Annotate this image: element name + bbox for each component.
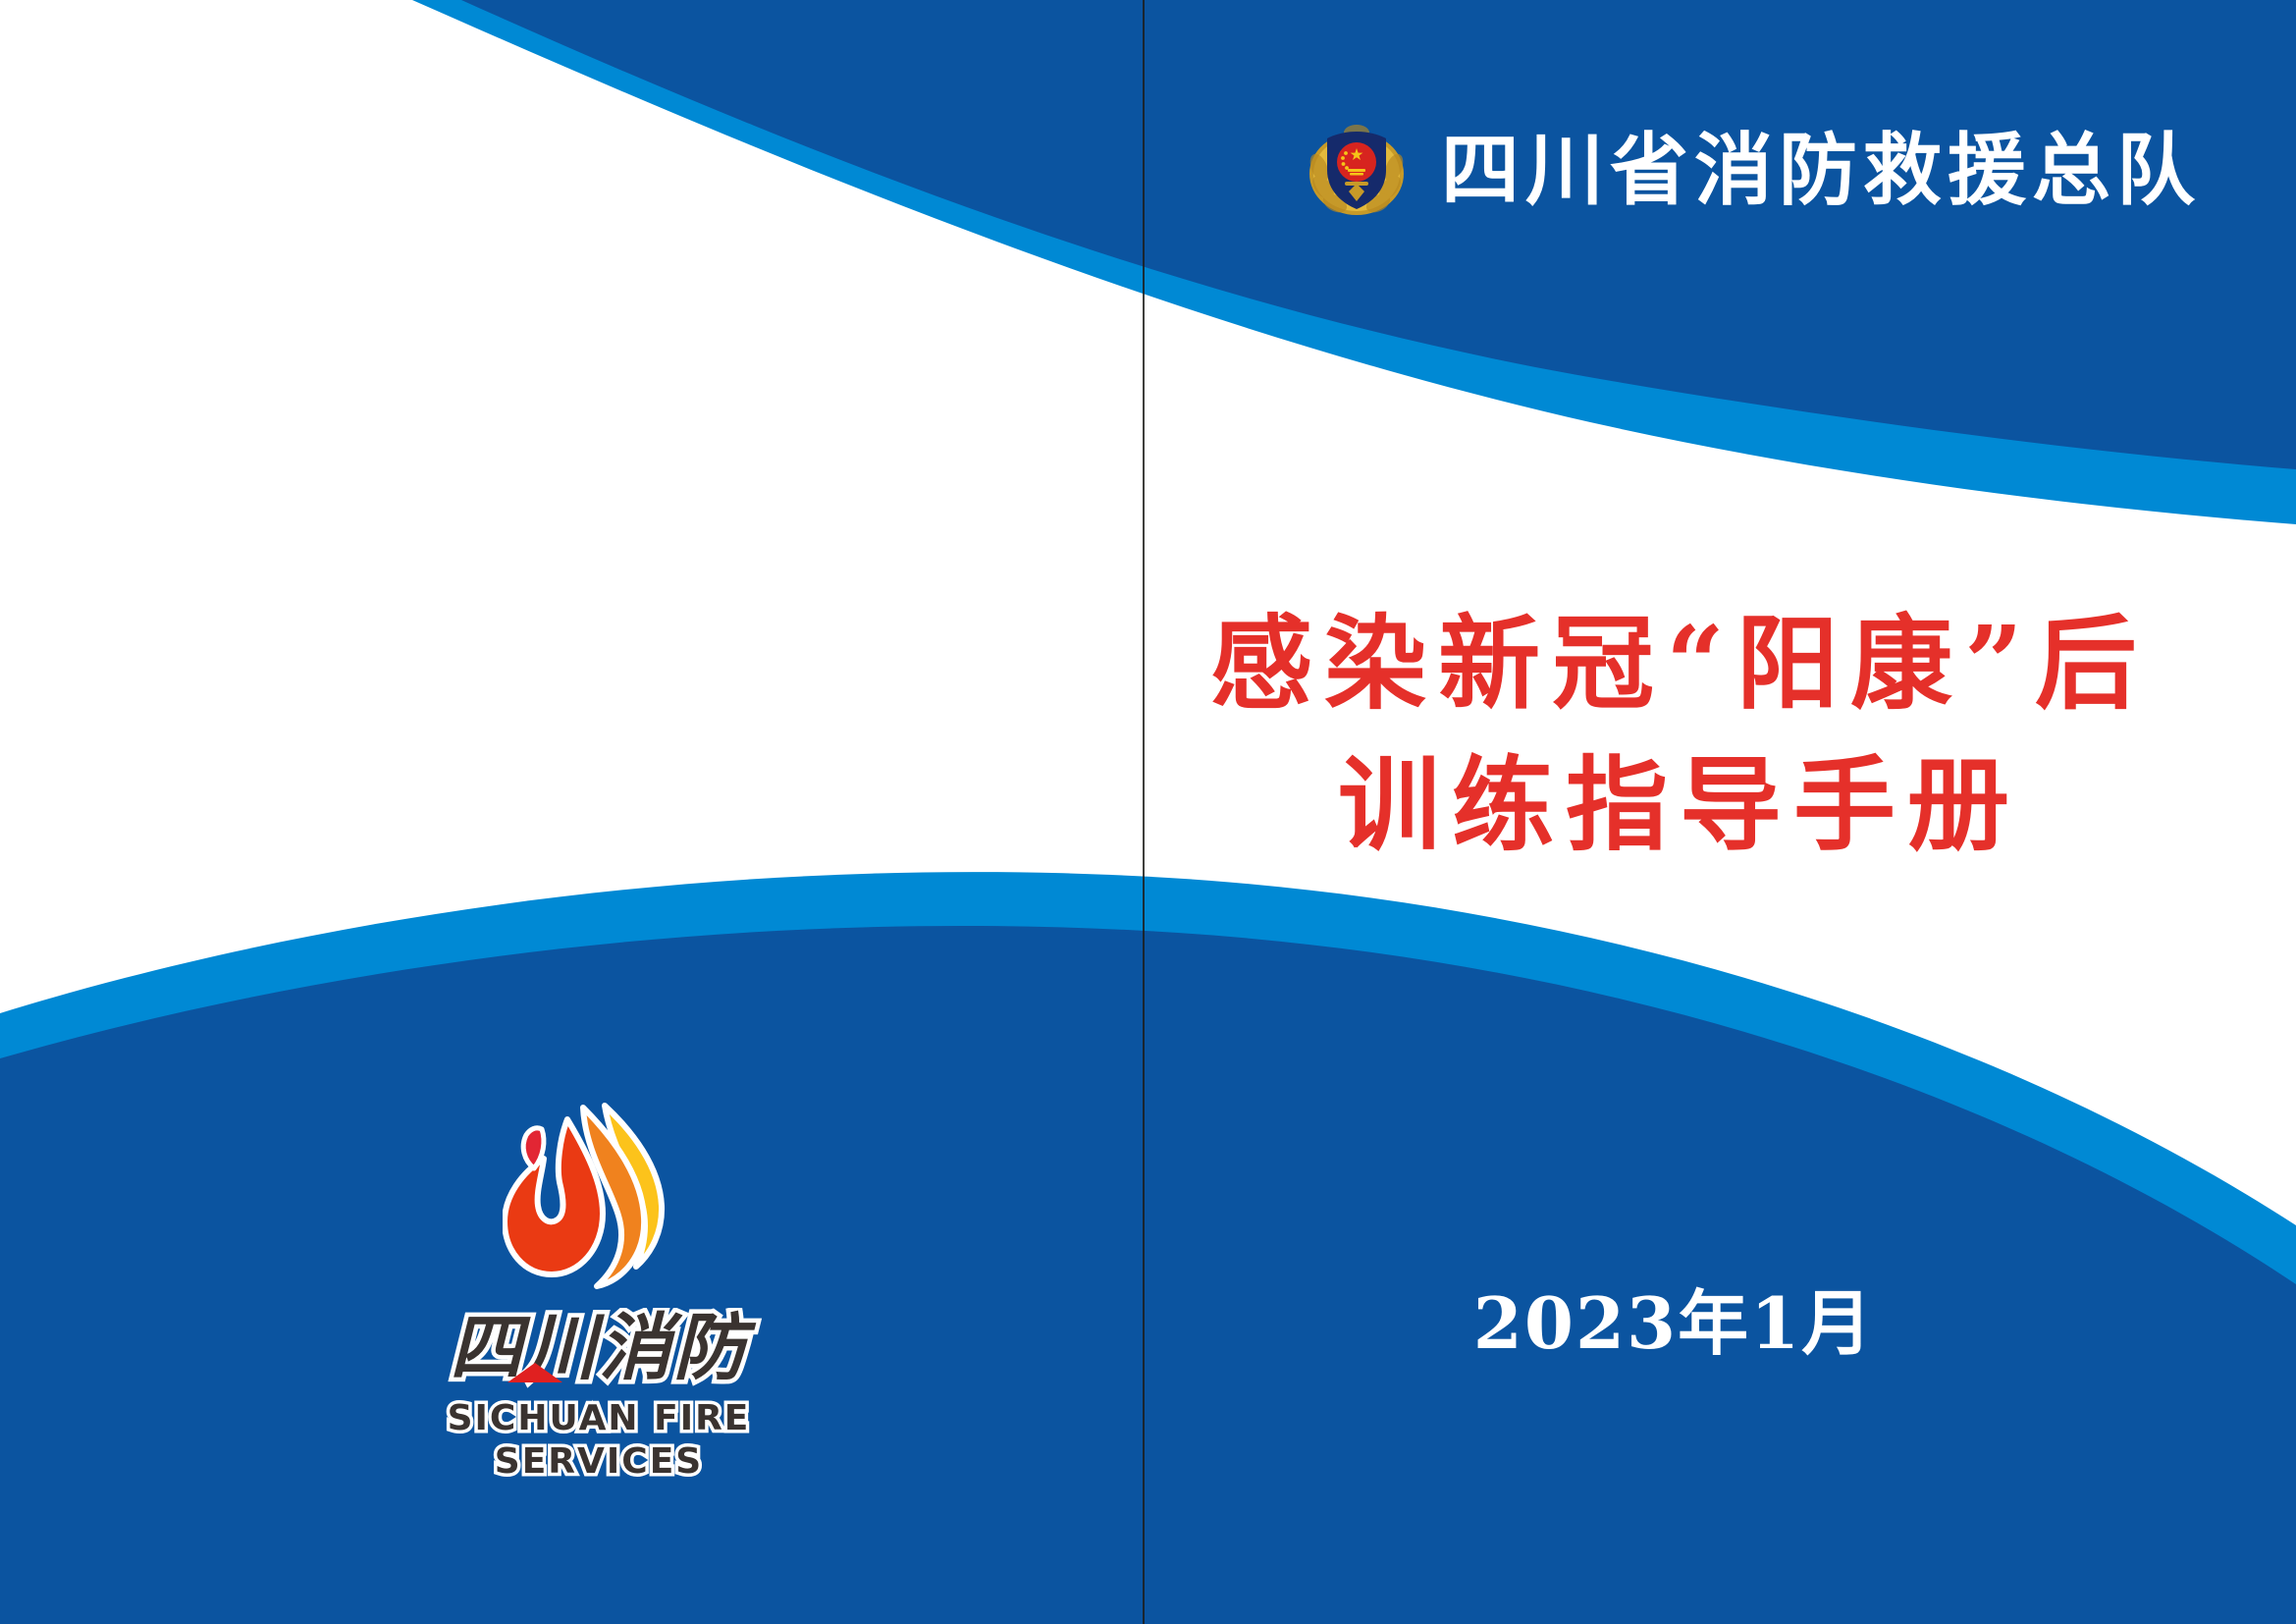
publication-date: 2023年1月: [1178, 1288, 2169, 1359]
fire-rescue-emblem-icon: [1306, 119, 1408, 221]
sichuan-fire-flame-icon: [503, 1092, 695, 1302]
brand-name-en-line2: SERVICES: [495, 1441, 703, 1482]
title-line-2: 训练指导手册: [1178, 734, 2169, 876]
brand-name-cn-text: 四川消防: [450, 1308, 757, 1390]
page-title: 感染新冠“阳康”后 训练指导手册: [1178, 593, 2169, 875]
brand-lockup: 四川消防 SICHUAN FIRE SERVICES: [388, 1092, 810, 1485]
cover-page: 四川省消防救援总队 感染新冠“阳康”后 训练指导手册 2023年1月 四川消防 …: [0, 0, 2296, 1624]
brand-name-en: SICHUAN FIRE SERVICES: [402, 1394, 795, 1485]
brand-name-cn: 四川消防: [388, 1308, 810, 1392]
masthead: 四川省消防救援总队: [1306, 106, 2130, 234]
brand-name-en-line1: SICHUAN FIRE: [448, 1398, 751, 1438]
centre-fold-line: [1143, 0, 1145, 1624]
corps-name: 四川省消防救援总队: [1441, 131, 2201, 209]
title-line-1: 感染新冠“阳康”后: [1178, 593, 2169, 734]
